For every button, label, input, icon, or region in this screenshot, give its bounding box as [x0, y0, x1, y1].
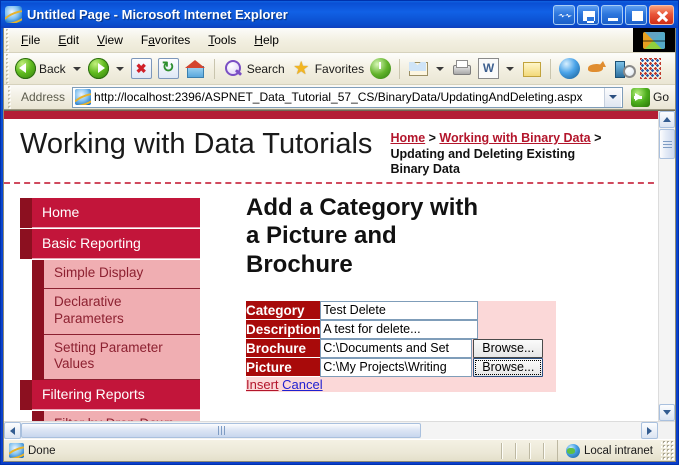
- favorites-star-icon: [291, 58, 312, 79]
- menu-favorites[interactable]: Favorites: [132, 30, 199, 50]
- sidebar-item-label: Home: [32, 198, 200, 228]
- sidebar-item-home[interactable]: Home: [20, 198, 200, 228]
- table-row: Insert Cancel: [246, 377, 556, 393]
- resize-grip[interactable]: [661, 440, 675, 461]
- status-divider: [515, 443, 516, 459]
- print-icon: [451, 58, 472, 79]
- notes-icon: [521, 58, 542, 79]
- back-button[interactable]: Back: [12, 56, 69, 82]
- misc-button[interactable]: [637, 56, 664, 82]
- security-zone-label: Local intranet: [584, 445, 653, 457]
- horizontal-scrollbar[interactable]: [4, 421, 675, 439]
- menu-tools[interactable]: Tools: [199, 30, 245, 50]
- scroll-corner: [658, 422, 675, 439]
- brochure-file-input[interactable]: C:\Documents and Set: [320, 339, 472, 358]
- mail-dropdown-icon[interactable]: [436, 67, 444, 71]
- favorites-label: Favorites: [315, 62, 364, 76]
- insert-link[interactable]: Insert: [246, 377, 279, 392]
- scroll-up-button[interactable]: [659, 111, 675, 128]
- horizontal-scroll-track[interactable]: [421, 422, 641, 439]
- window-title: Untitled Page - Microsoft Internet Explo…: [27, 7, 553, 22]
- maximize-button[interactable]: [625, 5, 647, 25]
- picture-file-input[interactable]: C:\My Projects\Writing: [320, 358, 472, 377]
- refresh-icon: [158, 58, 179, 79]
- menu-edit[interactable]: Edit: [49, 30, 88, 50]
- sidebar-item-label: Setting Parameter Values: [44, 335, 200, 381]
- sidebar-nav: Home Basic Reporting Simple Display: [4, 184, 200, 421]
- page-favicon-icon: [75, 89, 91, 105]
- stop-button[interactable]: [128, 56, 155, 82]
- fox-button[interactable]: [583, 56, 610, 82]
- sidebar-item-label: Filter by Drop-Down List: [44, 411, 200, 421]
- status-text: Done: [28, 445, 56, 457]
- home-icon: [185, 58, 206, 79]
- sidebar-item-label: Filtering Reports: [32, 380, 200, 410]
- edit-word-icon: [478, 58, 499, 79]
- address-bar: Address http://localhost:2396/ASPNET_Dat…: [4, 85, 675, 110]
- vertical-scrollbar[interactable]: [658, 111, 675, 421]
- search-label: Search: [247, 62, 285, 76]
- restore-size-button[interactable]: [553, 5, 575, 25]
- close-button[interactable]: [649, 5, 674, 25]
- field-label-category: Category: [246, 301, 320, 320]
- insert-form-table: Category Test Delete Description: [246, 301, 556, 393]
- stop-icon: [131, 58, 152, 79]
- address-dropdown-icon[interactable]: [604, 88, 621, 107]
- page-top-accent: [4, 111, 658, 119]
- table-row: Brochure C:\Documents and SetBrowse...: [246, 339, 556, 358]
- page-title: Add a Category with a Picture and Brochu…: [246, 194, 496, 279]
- ie-logo-icon: [5, 6, 22, 23]
- address-label: Address: [18, 90, 68, 104]
- home-button[interactable]: [182, 56, 209, 82]
- go-arrow-icon: [631, 88, 650, 107]
- send-to-button[interactable]: [577, 5, 599, 25]
- menu-bar: File Edit View Favorites Tools Help: [4, 28, 675, 53]
- sidebar-item-declarative-parameters[interactable]: Declarative Parameters: [32, 289, 200, 335]
- title-bar: Untitled Page - Microsoft Internet Explo…: [1, 1, 678, 28]
- sidebar-item-simple-display[interactable]: Simple Display: [32, 260, 200, 289]
- breadcrumb-sep-2: >: [591, 131, 602, 145]
- sidebar-accent: [20, 380, 32, 410]
- forward-button[interactable]: [85, 56, 112, 82]
- sidebar-accent: [32, 289, 44, 335]
- cancel-link[interactable]: Cancel: [282, 377, 322, 392]
- minimize-button[interactable]: [601, 5, 623, 25]
- back-dropdown-icon[interactable]: [73, 67, 81, 71]
- status-divider: [543, 443, 544, 459]
- field-label-description: Description: [246, 320, 320, 339]
- search-icon: [223, 58, 244, 79]
- field-label-picture: Picture: [246, 358, 320, 377]
- messenger-button[interactable]: [556, 56, 583, 82]
- intranet-globe-icon: [566, 444, 580, 458]
- history-button[interactable]: [367, 56, 394, 82]
- brand-logo: [633, 28, 675, 52]
- row-spacer: [478, 301, 556, 320]
- sidebar-accent: [20, 229, 32, 259]
- page-header: Working with Data Tutorials Home > Worki…: [4, 119, 658, 184]
- mail-button[interactable]: [405, 56, 432, 82]
- refresh-button[interactable]: [155, 56, 182, 82]
- sidebar-accent: [32, 335, 44, 381]
- sidebar-item-setting-parameter-values[interactable]: Setting Parameter Values: [32, 335, 200, 381]
- address-grip[interactable]: [6, 85, 14, 109]
- scroll-left-button[interactable]: [4, 422, 21, 439]
- table-row: Category Test Delete: [246, 301, 556, 320]
- menu-help[interactable]: Help: [245, 30, 288, 50]
- menu-grip[interactable]: [4, 28, 12, 52]
- go-button[interactable]: Go: [627, 88, 673, 107]
- field-label-brochure: Brochure: [246, 339, 320, 358]
- sidebar-item-filtering-reports[interactable]: Filtering Reports: [20, 380, 200, 410]
- menu-view[interactable]: View: [88, 30, 132, 50]
- web-page: Working with Data Tutorials Home > Worki…: [4, 111, 658, 421]
- edit-button[interactable]: [475, 56, 502, 82]
- sidebar-accent: [32, 260, 44, 289]
- vertical-scroll-thumb[interactable]: [659, 129, 675, 159]
- sidebar-item-filter-by-drop-down-list[interactable]: Filter by Drop-Down List: [32, 411, 200, 421]
- forward-icon: [88, 58, 109, 79]
- breadcrumb-sep-1: >: [425, 131, 439, 145]
- address-input[interactable]: http://localhost:2396/ASPNET_Data_Tutori…: [72, 87, 623, 108]
- window-controls: [553, 5, 676, 25]
- breadcrumb-home-link[interactable]: Home: [390, 131, 425, 145]
- scroll-down-button[interactable]: [659, 404, 675, 421]
- research-button[interactable]: [610, 56, 637, 82]
- status-page-icon: [9, 443, 24, 458]
- table-row: Description A test for delete...: [246, 320, 556, 339]
- history-icon: [370, 58, 391, 79]
- back-label: Back: [39, 62, 66, 76]
- toolbar-separator: [214, 59, 215, 79]
- site-title: Working with Data Tutorials: [20, 125, 372, 161]
- research-icon: [613, 58, 634, 79]
- status-divider: [501, 443, 502, 459]
- status-divider: [529, 443, 530, 459]
- field-value-category: Test Delete: [320, 301, 478, 320]
- breadcrumb-section-link[interactable]: Working with Binary Data: [439, 131, 590, 145]
- vertical-scroll-track[interactable]: [659, 159, 675, 404]
- row-spacer: [478, 320, 556, 339]
- toolbar-grip[interactable]: [4, 53, 12, 84]
- brochure-browse-button[interactable]: Browse...: [473, 339, 543, 358]
- print-button[interactable]: [448, 56, 475, 82]
- picture-browse-button[interactable]: Browse...: [473, 358, 543, 377]
- main-toolbar: Back Search Favorites: [4, 53, 675, 85]
- forward-dropdown-icon[interactable]: [116, 67, 124, 71]
- favorites-button[interactable]: Favorites: [288, 56, 367, 82]
- client-area: File Edit View Favorites Tools Help Back: [3, 28, 676, 462]
- browser-window: Untitled Page - Microsoft Internet Explo…: [0, 0, 679, 465]
- field-value-description: A test for delete...: [320, 320, 478, 339]
- sidebar-item-label: Declarative Parameters: [44, 289, 200, 335]
- back-icon: [15, 58, 36, 79]
- sidebar-item-basic-reporting[interactable]: Basic Reporting: [20, 229, 200, 259]
- status-bar: Done Local intranet: [4, 439, 675, 461]
- table-row: Picture C:\My Projects\WritingBrowse...: [246, 358, 556, 377]
- fox-icon: [586, 58, 607, 79]
- messenger-icon: [559, 58, 580, 79]
- sidebar-accent: [32, 411, 44, 421]
- toolbar-separator-3: [550, 59, 551, 79]
- mail-icon: [408, 58, 429, 79]
- category-input[interactable]: Test Delete: [320, 301, 478, 320]
- scroll-right-button[interactable]: [641, 422, 658, 439]
- menu-file[interactable]: File: [12, 30, 49, 50]
- breadcrumb-current: Updating and Deleting Existing Binary Da…: [390, 147, 575, 177]
- main-content: Add a Category with a Picture and Brochu…: [200, 184, 658, 392]
- description-input[interactable]: A test for delete...: [320, 320, 478, 339]
- status-segments: [56, 443, 557, 459]
- field-value-picture: C:\My Projects\WritingBrowse...: [320, 358, 556, 377]
- notes-button[interactable]: [518, 56, 545, 82]
- edit-dropdown-icon[interactable]: [506, 67, 514, 71]
- horizontal-scroll-thumb[interactable]: [21, 423, 421, 438]
- page-viewport: Working with Data Tutorials Home > Worki…: [4, 110, 675, 439]
- security-zone[interactable]: Local intranet: [557, 440, 659, 461]
- sidebar-item-label: Basic Reporting: [32, 229, 200, 259]
- sidebar-accent: [20, 198, 32, 228]
- breadcrumb: Home > Working with Binary Data > Updati…: [390, 125, 605, 178]
- sidebar-item-label: Simple Display: [44, 260, 200, 289]
- form-actions: Insert Cancel: [246, 377, 556, 393]
- field-value-brochure: C:\Documents and SetBrowse...: [320, 339, 556, 358]
- go-label: Go: [653, 90, 669, 104]
- address-url-text: http://localhost:2396/ASPNET_Data_Tutori…: [94, 90, 604, 104]
- search-button[interactable]: Search: [220, 56, 288, 82]
- toolbar-separator-2: [399, 59, 400, 79]
- misc-icon: [640, 58, 661, 79]
